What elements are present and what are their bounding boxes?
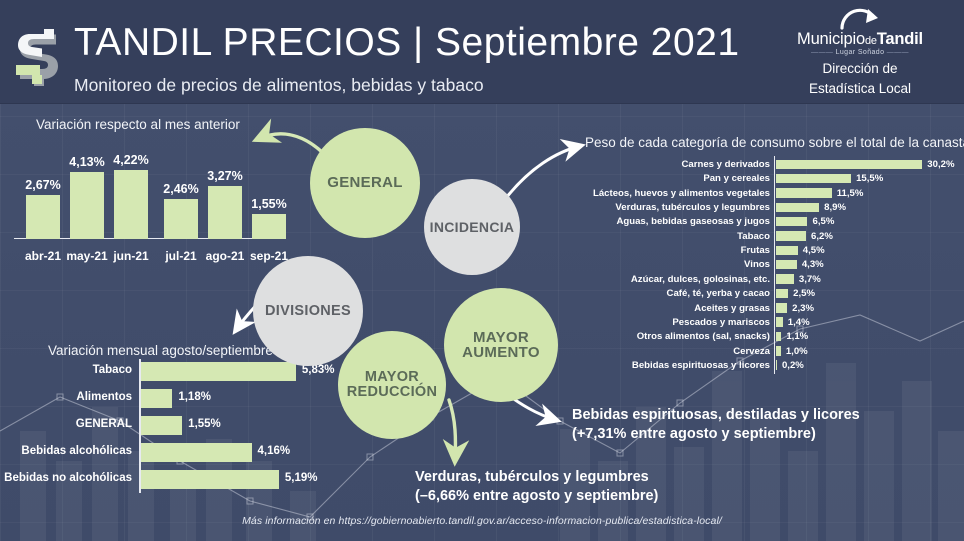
hbar-right-category-label: Pescados y mariscos xyxy=(580,317,770,328)
hbar-right-row: Verduras, tubérculos y legumbres8,9% xyxy=(580,201,964,215)
hbar-left-value-label: 4,16% xyxy=(258,445,291,457)
hbar-left-row: Tabaco5,83% xyxy=(0,362,330,382)
hbar-right-category-label: Frutas xyxy=(580,245,770,256)
hbar-right-value-label: 4,3% xyxy=(802,259,824,270)
circle-incidencia-label: INCIDENCIA xyxy=(430,220,515,234)
hbar-right-bar xyxy=(776,346,781,356)
hbar-right-bar xyxy=(776,231,806,241)
infographic-canvas: TANDIL PRECIOS | Septiembre 2021 Monitor… xyxy=(0,0,964,541)
hbar-right-bar xyxy=(776,203,819,213)
circle-incidencia[interactable]: INCIDENCIA xyxy=(424,179,520,275)
vbar-value-label: 2,46% xyxy=(153,182,209,196)
hbar-right-category-label: Cerveza xyxy=(580,346,770,357)
vbar-value-label: 3,27% xyxy=(197,169,253,183)
hbar-right-value-label: 8,9% xyxy=(824,202,846,213)
circle-divisiones-label: DIVISIONES xyxy=(265,304,351,319)
hbar-right-category-label: Bebidas espirituosas y licores xyxy=(580,360,770,371)
page-subtitle: Monitoreo de precios de alimentos, bebid… xyxy=(74,75,484,96)
hbar-right-row: Carnes y derivados30,2% xyxy=(580,158,964,172)
hbar-right-value-label: 1,0% xyxy=(786,346,808,357)
muni-name-de: de xyxy=(865,35,877,47)
chart-peso-categorias: Carnes y derivados30,2%Pan y cereales15,… xyxy=(580,158,964,378)
hbar-right-value-label: 30,2% xyxy=(927,159,954,170)
vbar-value-label: 2,67% xyxy=(15,178,71,192)
muni-name-part1: Municipio xyxy=(797,30,865,48)
hbar-right-row: Café, té, yerba y cacao2,5% xyxy=(580,287,964,301)
hbar-right-row: Aceites y grasas2,3% xyxy=(580,302,964,316)
hbar-right-category-label: Carnes y derivados xyxy=(580,159,770,170)
hbar-right-row: Bebidas espirituosas y licores0,2% xyxy=(580,359,964,373)
vbar-bar xyxy=(208,186,242,239)
footer-note: Más información en https://gobiernoabier… xyxy=(0,515,964,527)
page-title: TANDIL PRECIOS | Septiembre 2021 xyxy=(74,21,740,65)
hbar-right-value-label: 4,5% xyxy=(803,245,825,256)
hbar-right-row: Vinos4,3% xyxy=(580,258,964,272)
hbar-right-category-label: Otros alimentos (sal, snacks) xyxy=(580,331,770,342)
hbar-left-row: Bebidas alcohólicas4,16% xyxy=(0,443,330,463)
vbar-column: 4,13% xyxy=(70,168,104,239)
hbar-right-value-label: 11,5% xyxy=(837,188,864,199)
hbar-right-bar xyxy=(776,274,794,284)
vbar-bar xyxy=(70,172,104,239)
hbar-right-category-label: Tabaco xyxy=(580,231,770,242)
hbar-right-bar xyxy=(776,317,783,327)
hbar-left-category-label: Alimentos xyxy=(0,391,132,403)
vbar-column: 3,27% xyxy=(208,182,242,239)
hbar-right-value-label: 2,5% xyxy=(793,288,815,299)
hbar-left-value-label: 1,18% xyxy=(178,391,211,403)
vbar-bar xyxy=(252,214,286,239)
hbar-right-value-label: 0,2% xyxy=(782,360,804,371)
department-line-1: Dirección de xyxy=(770,61,950,76)
hbar-right-bar xyxy=(776,246,798,256)
vbar-column: 1,55% xyxy=(252,210,286,239)
hbar-right-category-label: Café, té, yerba y cacao xyxy=(580,288,770,299)
hbar-left-category-label: GENERAL xyxy=(0,418,132,430)
hbar-right-value-label: 2,3% xyxy=(792,303,814,314)
vbar-value-label: 4,22% xyxy=(103,153,159,167)
vbar-column: 2,46% xyxy=(164,195,198,239)
hbar-right-value-label: 15,5% xyxy=(856,173,883,184)
hbar-right-row: Lácteos, huevos y alimentos vegetales11,… xyxy=(580,187,964,201)
municipality-name: MunicipiodeTandil xyxy=(770,31,950,48)
vbar-category-label: jun-21 xyxy=(104,249,158,263)
callout-mayor-aumento: Bebidas espirituosas, destiladas y licor… xyxy=(572,406,860,444)
hbar-left-value-label: 1,55% xyxy=(188,418,221,430)
hbar-right-category-label: Pan y cereales xyxy=(580,173,770,184)
hbar-right-bar xyxy=(776,332,781,342)
circle-mayor-aumento[interactable]: MAYOR AUMENTO xyxy=(444,288,558,402)
muni-slogan-text: Lugar Soñado xyxy=(836,49,885,56)
callout-reduccion-line1: Verduras, tubérculos y legumbres xyxy=(415,468,658,487)
vbar-bar xyxy=(26,195,60,239)
hbar-right-row: Otros alimentos (sal, snacks)1,1% xyxy=(580,330,964,344)
hbar-right-category-label: Aceites y grasas xyxy=(580,303,770,314)
hbar-right-category-label: Lácteos, huevos y alimentos vegetales xyxy=(580,188,770,199)
hbar-left-bar xyxy=(141,389,172,408)
hbar-right-bar xyxy=(776,217,807,227)
vbar-column: 2,67% xyxy=(26,191,60,239)
circle-mayor-aumento-label-line2: AUMENTO xyxy=(462,345,540,360)
hbar-right-value-label: 1,4% xyxy=(788,317,810,328)
chart-variacion-agosto-septiembre: Tabaco5,83%Alimentos1,18%GENERAL1,55%Beb… xyxy=(0,362,330,497)
page-header: TANDIL PRECIOS | Septiembre 2021 Monitor… xyxy=(0,0,964,104)
hbar-right-row: Tabaco6,2% xyxy=(580,230,964,244)
chart-title-variacion-agosto-septiembre: Variación mensual agosto/septiembre xyxy=(48,343,273,358)
circle-general-label: GENERAL xyxy=(327,175,402,190)
vbar-bar xyxy=(164,199,198,239)
vbar-column: 4,22% xyxy=(114,166,148,239)
hbar-right-bar xyxy=(776,174,851,184)
callout-reduccion-line2: (–6,66% entre agosto y septiembre) xyxy=(415,487,658,506)
muni-name-part2: Tandil xyxy=(877,30,923,48)
callout-mayor-reduccion: Verduras, tubérculos y legumbres (–6,66%… xyxy=(415,468,658,506)
municipality-logo: MunicipiodeTandil ——— Lugar Soñado ——— D… xyxy=(770,6,950,97)
hbar-right-category-label: Azúcar, dulces, golosinas, etc. xyxy=(580,274,770,285)
chart-title-peso-categorias: Peso de cada categoría de consumo sobre … xyxy=(585,135,964,150)
vbar-value-label: 1,55% xyxy=(241,197,297,211)
hbar-right-bar xyxy=(776,188,832,198)
hbar-left-category-label: Bebidas no alcohólicas xyxy=(0,472,132,484)
vbar-bar xyxy=(114,170,148,239)
municipality-slogan: ——— Lugar Soñado ——— xyxy=(770,49,950,56)
hbar-left-category-label: Tabaco xyxy=(0,364,132,376)
circle-mayor-reduccion-label-line2: REDUCCIÓN xyxy=(347,385,438,400)
circle-divisiones[interactable]: DIVISIONES xyxy=(253,256,363,366)
hbar-right-category-label: Aguas, bebidas gaseosas y jugos xyxy=(580,216,770,227)
callout-aumento-line1: Bebidas espirituosas, destiladas y licor… xyxy=(572,406,860,425)
hbar-right-row: Frutas4,5% xyxy=(580,244,964,258)
hbar-left-row: GENERAL1,55% xyxy=(0,416,330,436)
hbar-right-bar xyxy=(776,260,797,270)
hbar-left-bar xyxy=(141,416,182,435)
dollar-sign-icon xyxy=(10,22,66,88)
hbar-right-row: Azúcar, dulces, golosinas, etc.3,7% xyxy=(580,273,964,287)
hbar-right-row: Aguas, bebidas gaseosas y jugos6,5% xyxy=(580,215,964,229)
hbar-right-bar xyxy=(776,289,788,299)
hbar-left-bar xyxy=(141,443,252,462)
hbar-right-bar xyxy=(776,160,922,170)
hbar-right-row: Pescados y mariscos1,4% xyxy=(580,316,964,330)
hbar-right-row: Cerveza1,0% xyxy=(580,345,964,359)
circle-mayor-reduccion-label-line1: MAYOR xyxy=(365,370,419,385)
circle-general[interactable]: GENERAL xyxy=(310,128,420,238)
hbar-right-value-label: 6,2% xyxy=(811,231,833,242)
arc-arrow-icon xyxy=(838,6,882,30)
hbar-right-category-label: Verduras, tubérculos y legumbres xyxy=(580,202,770,213)
hbar-left-row: Bebidas no alcohólicas5,19% xyxy=(0,470,330,490)
hbar-left-category-label: Bebidas alcohólicas xyxy=(0,445,132,457)
hbar-right-value-label: 1,1% xyxy=(786,331,808,342)
hbar-right-category-label: Vinos xyxy=(580,259,770,270)
hbar-right-value-label: 3,7% xyxy=(799,274,821,285)
hbar-right-row: Pan y cereales15,5% xyxy=(580,172,964,186)
hbar-left-row: Alimentos1,18% xyxy=(0,389,330,409)
hbar-right-bar xyxy=(776,303,787,313)
chart-title-variacion-mensual: Variación respecto al mes anterior xyxy=(36,117,240,132)
hbar-left-value-label: 5,19% xyxy=(285,472,318,484)
circle-mayor-reduccion[interactable]: MAYOR REDUCCIÓN xyxy=(338,331,446,439)
department-line-2: Estadística Local xyxy=(770,81,950,96)
hbar-left-bar xyxy=(141,362,296,381)
hbar-right-bar xyxy=(776,360,777,370)
callout-aumento-line2: (+7,31% entre agosto y septiembre) xyxy=(572,425,860,444)
hbar-right-value-label: 6,5% xyxy=(812,216,834,227)
hbar-left-bar xyxy=(141,470,279,489)
chart-variacion-mensual: 2,67%abr-214,13%may-214,22%jun-212,46%ju… xyxy=(8,140,288,265)
circle-mayor-aumento-label-line1: MAYOR xyxy=(473,330,529,345)
